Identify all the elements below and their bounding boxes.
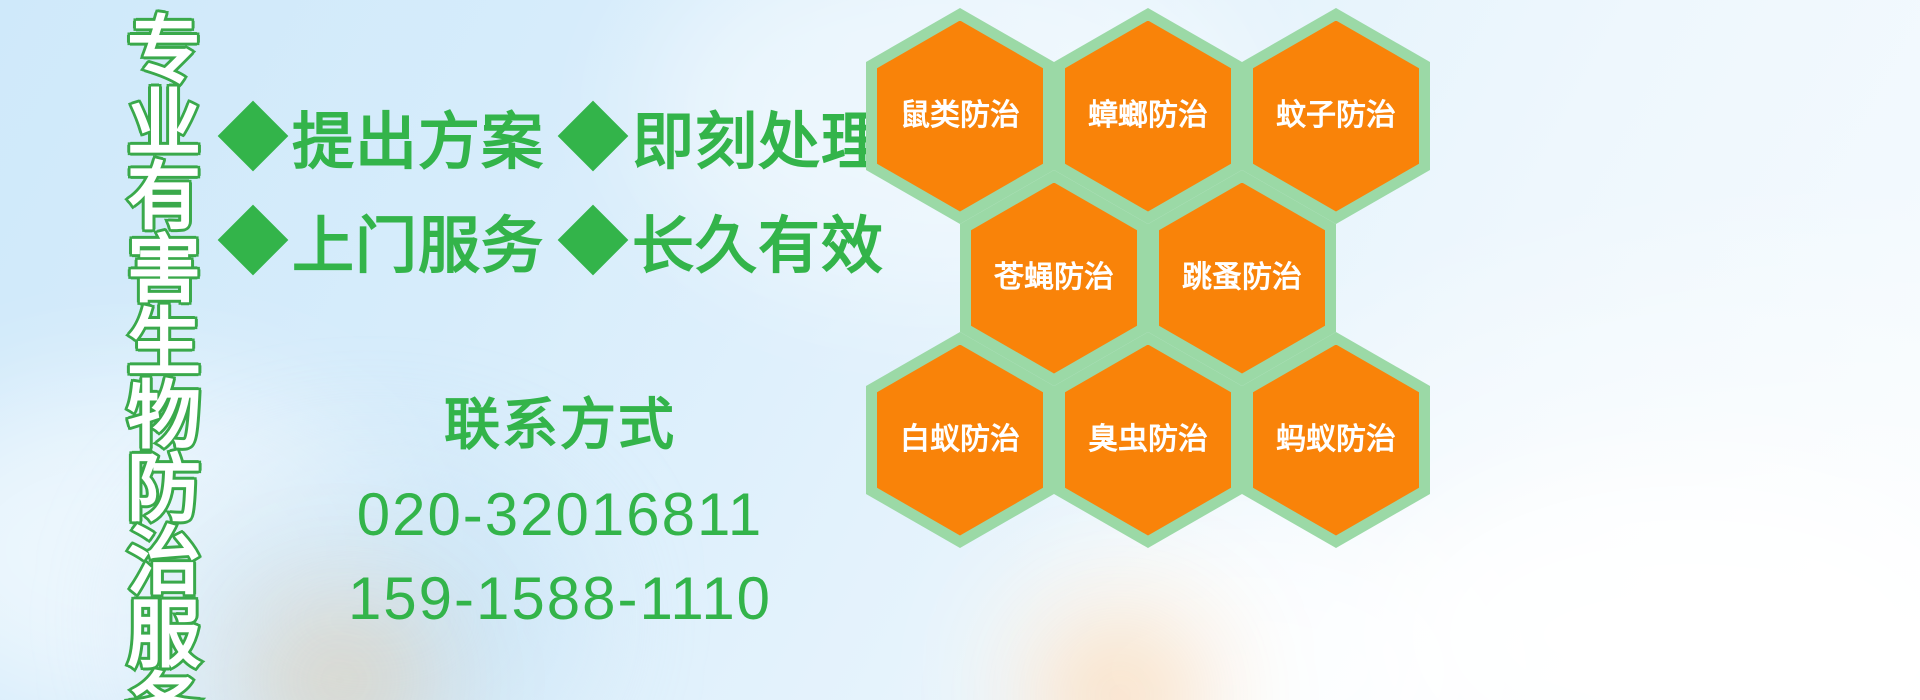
- vertical-headline-char: 务: [127, 671, 201, 700]
- service-hex-label: 鼠类防治: [900, 101, 1020, 131]
- background-blur-blob: [1380, 470, 1920, 700]
- feature-item: 长久有效: [568, 195, 884, 285]
- vertical-headline-char: 有: [127, 160, 201, 233]
- service-hex-label: 白蚁防治: [900, 425, 1020, 455]
- hexagon-inner: 白蚁防治: [877, 345, 1043, 536]
- hexagon-inner: 蚊子防治: [1253, 21, 1419, 212]
- feature-item: 提出方案: [228, 91, 544, 181]
- vertical-headline-char: 业: [127, 87, 201, 160]
- hexagon-inner: 苍蝇防治: [971, 183, 1137, 374]
- vertical-headline-char: 害: [127, 233, 201, 306]
- vertical-headline-char: 治: [127, 525, 201, 598]
- hexagon-inner: 蟑螂防治: [1065, 21, 1231, 212]
- feature-item: 即刻处理: [568, 91, 884, 181]
- vertical-headline: 专 业 有 害 生 物 防 治 服 务: [112, 14, 216, 686]
- feature-item: 上门服务: [228, 195, 544, 285]
- feature-label: 提出方案: [292, 91, 544, 181]
- contact-phone-landline[interactable]: 020-32016811: [230, 473, 890, 557]
- vertical-headline-char: 防: [127, 452, 201, 525]
- feature-row: 提出方案 即刻处理: [228, 84, 878, 188]
- diamond-icon: [558, 205, 629, 276]
- hexagon-inner: 蚂蚁防治: [1253, 345, 1419, 536]
- service-hex-label: 跳蚤防治: [1182, 263, 1302, 293]
- pest-control-service-banner: 专 业 有 害 生 物 防 治 服 务 提出方案 即刻处理 上门服务: [0, 0, 1920, 700]
- feature-label: 上门服务: [292, 195, 544, 285]
- service-hex-label: 苍蝇防治: [994, 263, 1114, 293]
- vertical-headline-char: 物: [127, 379, 201, 452]
- contact-title: 联系方式: [230, 380, 890, 461]
- feature-row: 上门服务 长久有效: [228, 188, 878, 292]
- feature-list: 提出方案 即刻处理 上门服务 长久有效: [228, 84, 878, 292]
- hexagon-inner: 跳蚤防治: [1159, 183, 1325, 374]
- diamond-icon: [218, 205, 289, 276]
- vertical-headline-char: 专: [127, 14, 201, 87]
- service-hex-label: 臭虫防治: [1088, 425, 1208, 455]
- hexagon-inner: 臭虫防治: [1065, 345, 1231, 536]
- service-hex-label: 蟑螂防治: [1088, 101, 1208, 131]
- contact-phone-mobile[interactable]: 159-1588-1110: [230, 557, 890, 641]
- service-hex-label: 蚊子防治: [1276, 101, 1396, 131]
- feature-label: 长久有效: [632, 195, 884, 285]
- service-hex-label: 蚂蚁防治: [1276, 425, 1396, 455]
- diamond-icon: [558, 101, 629, 172]
- vertical-headline-char: 服: [127, 598, 201, 671]
- hexagon-inner: 鼠类防治: [877, 21, 1043, 212]
- contact-block: 联系方式 020-32016811 159-1588-1110: [230, 380, 890, 641]
- feature-label: 即刻处理: [632, 91, 884, 181]
- service-hexagon-grid: 鼠类防治 蟑螂防治 蚊子防治 苍蝇防治 跳蚤防治 白蚁防治: [860, 0, 1460, 700]
- diamond-icon: [218, 101, 289, 172]
- vertical-headline-char: 生: [127, 306, 201, 379]
